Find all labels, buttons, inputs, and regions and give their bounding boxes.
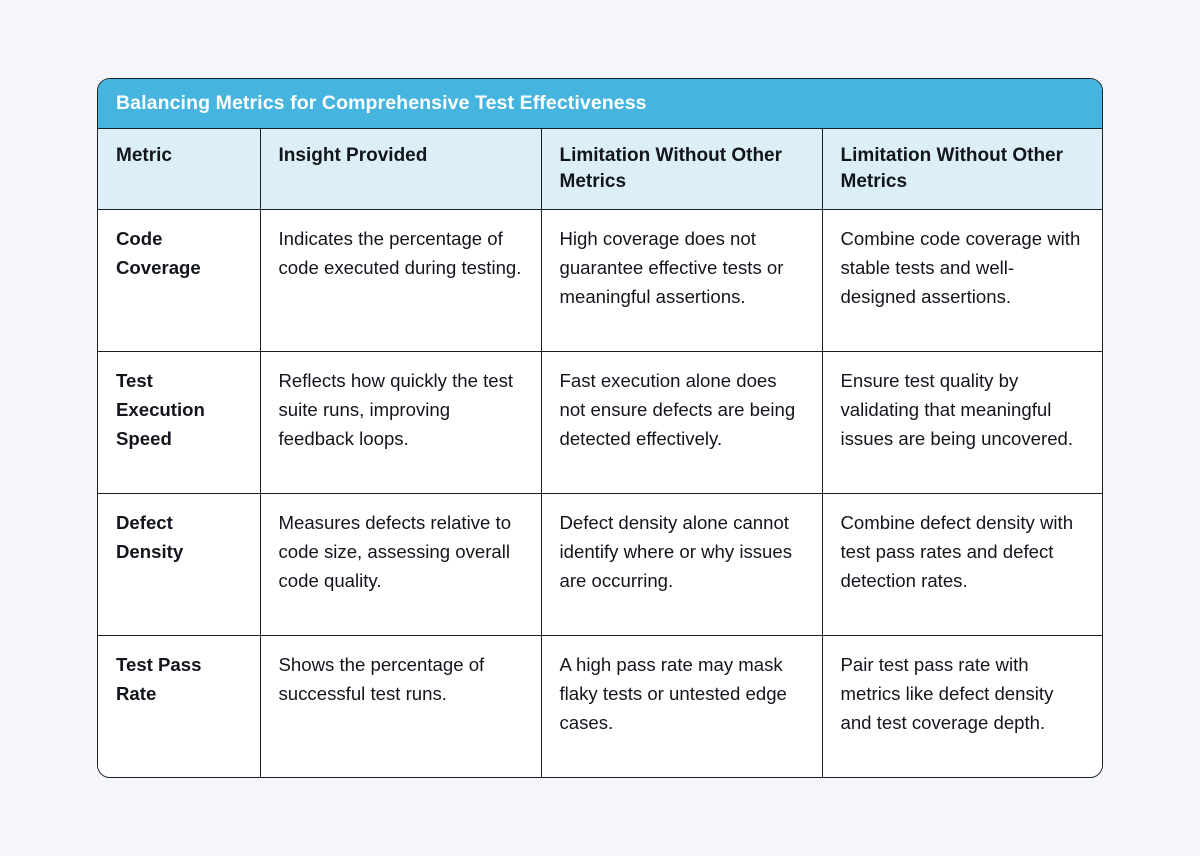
table-header-row: Metric Insight Provided Limitation Witho… bbox=[98, 128, 1103, 209]
cell-insight: Shows the percentage of successful test … bbox=[260, 635, 541, 777]
table-row: Defect Density Measures defects relative… bbox=[98, 493, 1103, 635]
table-row: Test Pass Rate Shows the percentage of s… bbox=[98, 635, 1103, 777]
column-header-limitation-without-other-metrics-1: Limitation Without Other Metrics bbox=[541, 128, 822, 209]
metrics-table: Balancing Metrics for Comprehensive Test… bbox=[98, 79, 1103, 777]
page-canvas: Balancing Metrics for Comprehensive Test… bbox=[0, 0, 1200, 856]
cell-limitation: Fast execution alone does not ensure def… bbox=[541, 351, 822, 493]
metrics-table-card: Balancing Metrics for Comprehensive Test… bbox=[97, 78, 1103, 778]
table-title-cell: Balancing Metrics for Comprehensive Test… bbox=[98, 79, 1103, 128]
cell-insight: Reflects how quickly the test suite runs… bbox=[260, 351, 541, 493]
cell-limitation: A high pass rate may mask flaky tests or… bbox=[541, 635, 822, 777]
cell-recommendation: Combine code coverage with stable tests … bbox=[822, 209, 1103, 351]
cell-metric: Test Execution Speed bbox=[98, 351, 260, 493]
table-body: Code Coverage Indicates the percentage o… bbox=[98, 209, 1103, 777]
cell-insight: Measures defects relative to code size, … bbox=[260, 493, 541, 635]
cell-limitation: High coverage does not guarantee effecti… bbox=[541, 209, 822, 351]
table-row: Code Coverage Indicates the percentage o… bbox=[98, 209, 1103, 351]
cell-insight: Indicates the percentage of code execute… bbox=[260, 209, 541, 351]
cell-recommendation: Pair test pass rate with metrics like de… bbox=[822, 635, 1103, 777]
cell-recommendation: Combine defect density with test pass ra… bbox=[822, 493, 1103, 635]
table-row: Test Execution Speed Reflects how quickl… bbox=[98, 351, 1103, 493]
cell-metric: Test Pass Rate bbox=[98, 635, 260, 777]
cell-metric: Code Coverage bbox=[98, 209, 260, 351]
cell-limitation: Defect density alone cannot identify whe… bbox=[541, 493, 822, 635]
table-head: Balancing Metrics for Comprehensive Test… bbox=[98, 79, 1103, 209]
cell-metric: Defect Density bbox=[98, 493, 260, 635]
table-title-row: Balancing Metrics for Comprehensive Test… bbox=[98, 79, 1103, 128]
column-header-metric: Metric bbox=[98, 128, 260, 209]
column-header-limitation-without-other-metrics-2: Limitation Without Other Metrics bbox=[822, 128, 1103, 209]
column-header-insight-provided: Insight Provided bbox=[260, 128, 541, 209]
cell-recommendation: Ensure test quality by validating that m… bbox=[822, 351, 1103, 493]
table-title: Balancing Metrics for Comprehensive Test… bbox=[116, 92, 647, 114]
